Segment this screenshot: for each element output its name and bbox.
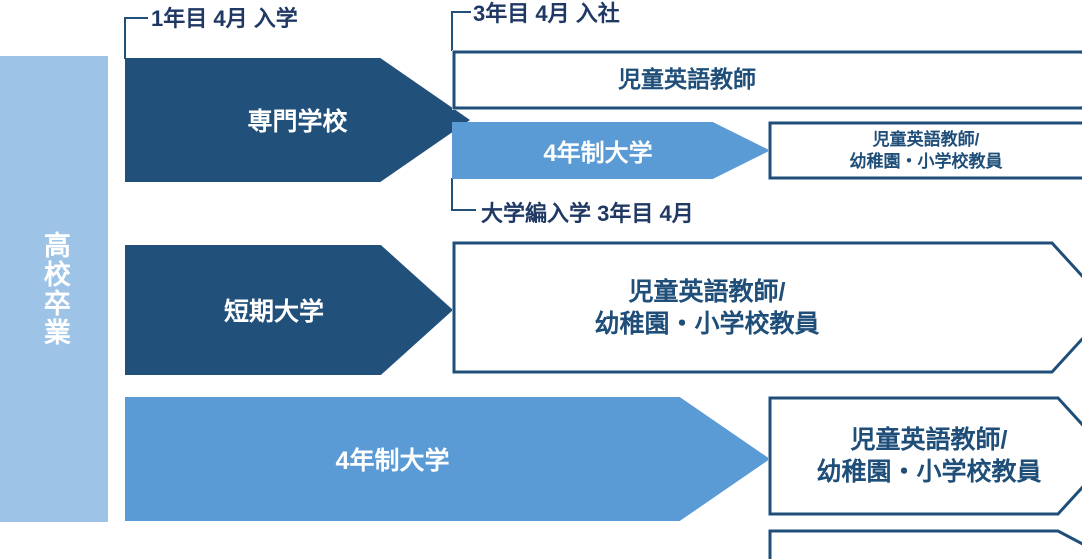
stage-vocational-school-label: 専門学校: [247, 102, 347, 138]
outcome-vocational-transfer-job[interactable]: 児童英語教師/ 幼稚園・小学校教員: [768, 121, 1082, 180]
outcome-university-job-label: 児童英語教師/ 幼稚園・小学校教員: [816, 424, 1041, 488]
annotation-employment-year3: 3年目 4月 入社: [473, 0, 620, 28]
bracket-employment-year3: [451, 11, 471, 51]
stage-university[interactable]: 4年制大学: [125, 397, 770, 521]
annotation-transfer-university: 大学編入学 3年目 4月: [481, 196, 694, 228]
outcome-vocational-transfer-job-label: 児童英語教師/ 幼稚園・小学校教員: [850, 129, 1003, 173]
outcome-junior-college-job-label: 児童英語教師/ 幼稚園・小学校教員: [594, 276, 819, 340]
stage-vocational-transfer-university[interactable]: 4年制大学: [452, 122, 770, 179]
bracket-transfer-university: [451, 178, 476, 211]
outcome-vocational-job-outline: [452, 50, 1082, 110]
outcome-next-row-partial-outline: [768, 529, 1082, 559]
annotation-enroll-year1: 1年目 4月 入学: [151, 1, 298, 33]
stage-vocational-transfer-university-label: 4年制大学: [543, 133, 652, 168]
outcome-vocational-job[interactable]: 児童英語教師: [452, 50, 1082, 110]
stage-junior-college[interactable]: 短期大学: [125, 245, 453, 375]
stage-vocational-school[interactable]: 専門学校: [125, 58, 470, 182]
outcome-university-job[interactable]: 児童英語教師/ 幼稚園・小学校教員: [768, 396, 1082, 516]
start-band-high-school-graduation: 高校卒業: [0, 56, 108, 522]
outcome-junior-college-job[interactable]: 児童英語教師/ 幼稚園・小学校教員: [452, 241, 1082, 374]
stage-university-label: 4年制大学: [336, 441, 450, 477]
start-band-label: 高校卒業: [38, 231, 70, 347]
stage-junior-college-label: 短期大学: [224, 292, 324, 328]
pathway-diagram: 高校卒業 1年目 4月 入学 3年目 4月 入社 大学編入学 3年目 4月 専門…: [0, 0, 1082, 559]
outcome-vocational-job-label: 児童英語教師: [618, 65, 756, 94]
bracket-enroll-year1: [124, 17, 148, 59]
outcome-next-row-partial: [768, 529, 1082, 559]
